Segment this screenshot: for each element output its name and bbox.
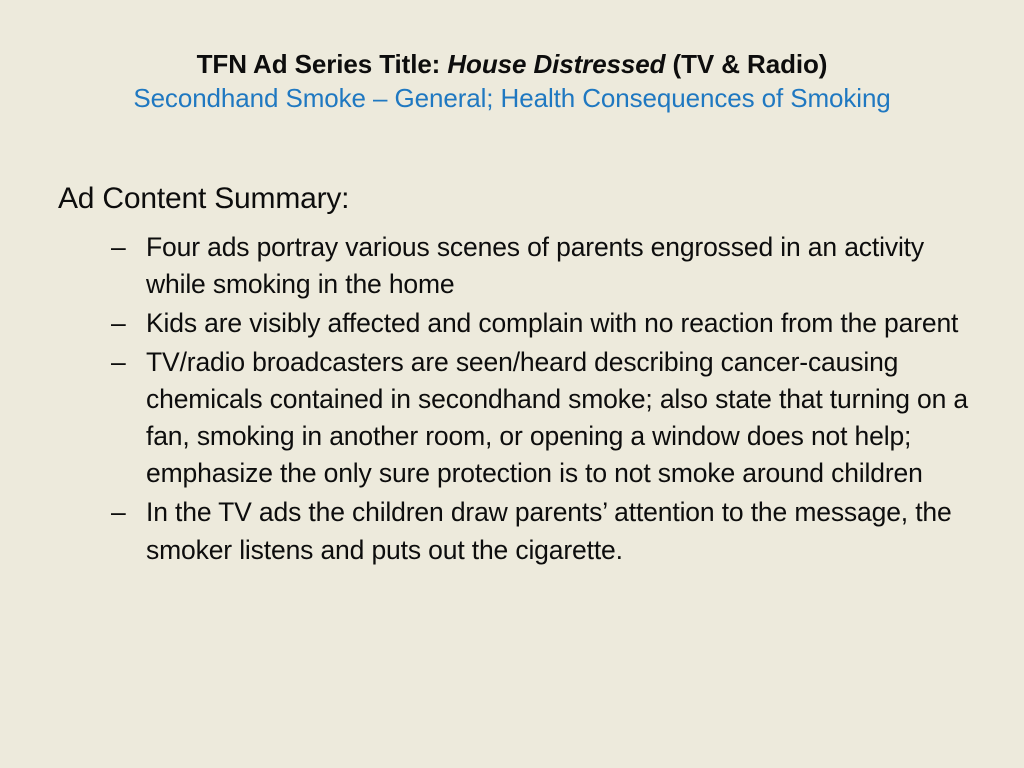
slide-subtitle: Secondhand Smoke – General; Health Conse… (40, 81, 984, 116)
bullet-dash-icon: – (111, 229, 126, 266)
list-item-text: In the TV ads the children draw parents’… (146, 497, 952, 564)
slide-canvas: TFN Ad Series Title: House Distressed (T… (0, 0, 1024, 768)
list-item: – Four ads portray various scenes of par… (58, 229, 988, 303)
list-item: – Kids are visibly affected and complain… (58, 305, 988, 342)
title-suffix: (TV & Radio) (673, 49, 828, 79)
list-item-text: TV/radio broadcasters are seen/heard des… (146, 347, 968, 488)
bullet-list: – Four ads portray various scenes of par… (58, 229, 988, 569)
body-block: Ad Content Summary: – Four ads portray v… (58, 182, 988, 571)
list-item-text: Four ads portray various scenes of paren… (146, 232, 924, 299)
title-prefix: TFN Ad Series Title: (197, 49, 441, 79)
title-block: TFN Ad Series Title: House Distressed (T… (40, 48, 984, 116)
bullet-dash-icon: – (111, 305, 126, 342)
title-series-name: House Distressed (447, 49, 665, 79)
slide-title: TFN Ad Series Title: House Distressed (T… (40, 48, 984, 81)
bullet-dash-icon: – (111, 494, 126, 531)
section-heading: Ad Content Summary: (58, 182, 988, 217)
list-item-text: Kids are visibly affected and complain w… (146, 308, 958, 338)
bullet-dash-icon: – (111, 344, 126, 381)
list-item: – In the TV ads the children draw parent… (58, 494, 988, 568)
list-item: – TV/radio broadcasters are seen/heard d… (58, 344, 988, 492)
